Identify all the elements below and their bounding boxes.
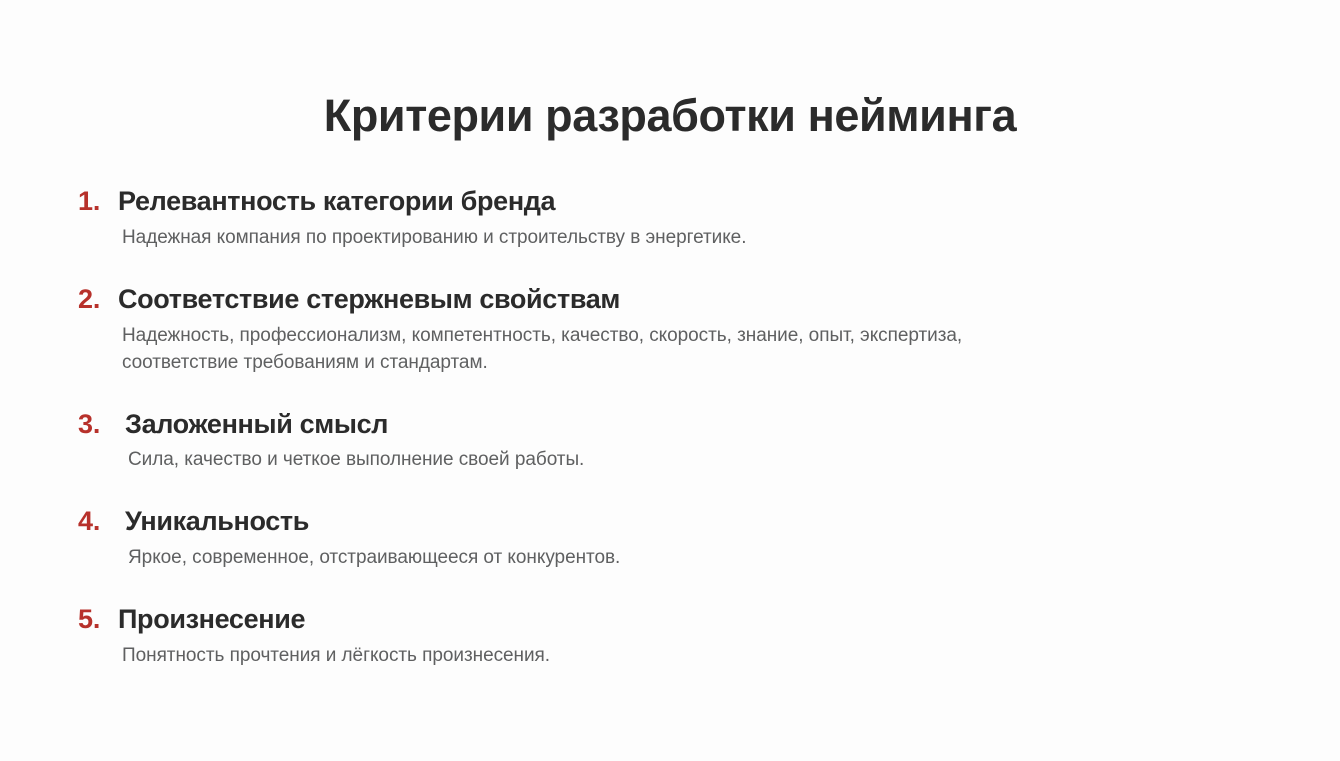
criterion-title: Релевантность категории бренда [118,186,555,218]
page-title: Критерии разработки нейминга [0,92,1340,141]
criterion-heading-row: 3. Заложенный смысл [78,409,1258,441]
criterion-heading-row: 1. Релевантность категории бренда [78,186,1258,218]
criterion-title: Соответствие стержневым свойствам [118,284,620,316]
criterion-description: Яркое, современное, отстраивающееся от к… [128,545,1088,572]
list-item: 2. Соответствие стержневым свойствам Над… [78,284,1258,377]
criterion-number: 3. [78,409,110,441]
criterion-description: Сила, качество и четкое выполнение своей… [128,447,1088,474]
criteria-list: 1. Релевантность категории бренда Надежн… [78,186,1258,689]
criterion-number: 4. [78,506,110,538]
criterion-description: Надежная компания по проектированию и ст… [122,225,1082,252]
criterion-heading-row: 2. Соответствие стержневым свойствам [78,284,1258,316]
criterion-heading-row: 4. Уникальность [78,506,1258,538]
criterion-number: 1. [78,186,110,218]
criterion-number: 5. [78,604,110,636]
list-item: 1. Релевантность категории бренда Надежн… [78,186,1258,252]
criterion-description: Понятность прочтения и лёгкость произнес… [122,643,1082,670]
criterion-number: 2. [78,284,110,316]
slide-canvas: Критерии разработки нейминга 1. Релевант… [0,0,1340,761]
criterion-description: Надежность, профессионализм, компетентно… [122,323,1082,377]
criterion-title: Произнесение [118,604,305,636]
list-item: 4. Уникальность Яркое, современное, отст… [78,506,1258,572]
list-item: 5. Произнесение Понятность прочтения и л… [78,604,1258,670]
criterion-title: Заложенный смысл [125,409,388,441]
criterion-heading-row: 5. Произнесение [78,604,1258,636]
criterion-title: Уникальность [125,506,309,538]
list-item: 3. Заложенный смысл Сила, качество и чет… [78,409,1258,475]
